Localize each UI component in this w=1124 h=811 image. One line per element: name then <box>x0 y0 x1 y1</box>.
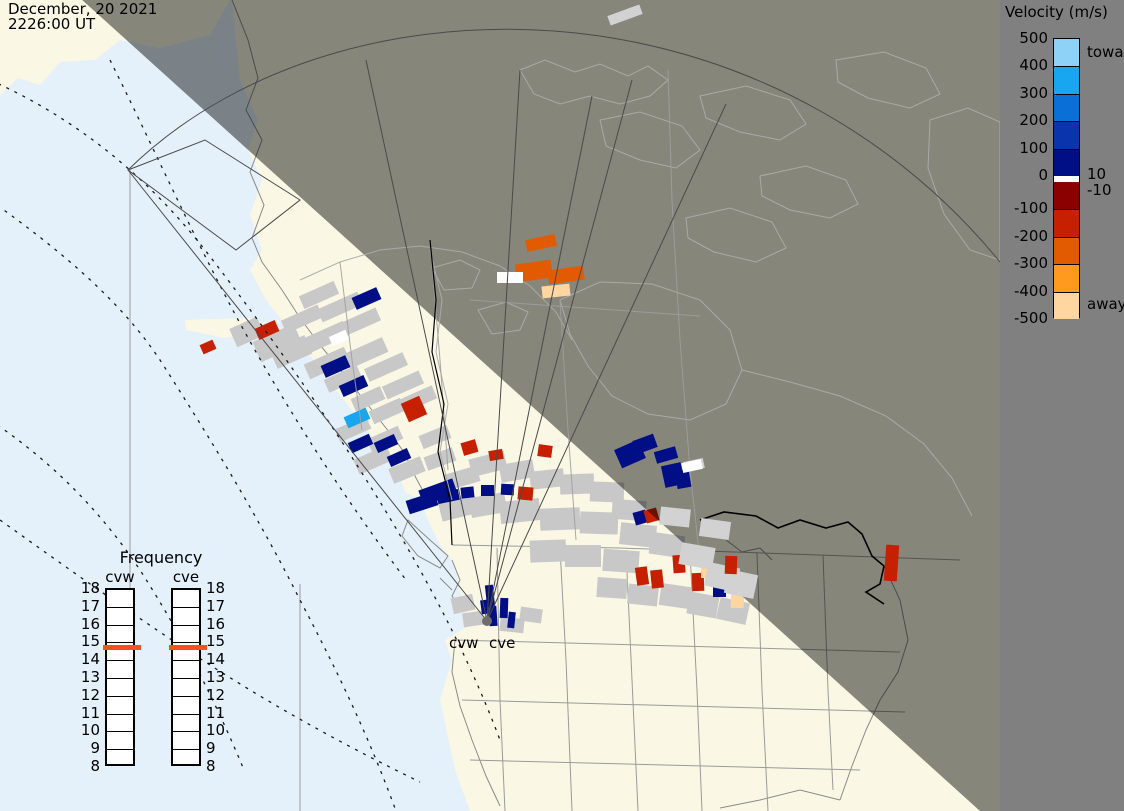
ground-scatter-cell <box>529 468 565 489</box>
radar-site-marker[interactable] <box>482 616 492 626</box>
colorbar-band-away-2 <box>1054 237 1079 264</box>
frequency-cell <box>173 608 199 626</box>
velocity-cell <box>725 556 738 574</box>
frequency-tick-cvw-16: 16 <box>80 615 100 633</box>
frequency-cell <box>173 697 199 715</box>
colorbar-band-away-4 <box>1054 292 1079 319</box>
ground-scatter-cell <box>530 539 567 562</box>
colorbar-band-away-0 <box>1054 182 1079 209</box>
timestamp-time: 2226:00 UT <box>8 17 95 32</box>
ground-scatter-cell <box>659 506 691 527</box>
frequency-cell <box>107 697 133 715</box>
frequency-cell <box>173 626 199 644</box>
frequency-cell <box>107 679 133 697</box>
frequency-cell <box>107 661 133 679</box>
colorbar-tick--200: -200 <box>1014 227 1048 245</box>
colorbar-divider <box>1054 237 1079 238</box>
colorbar-tick-200: 200 <box>1019 111 1048 129</box>
colorbar-tick--300: -300 <box>1014 254 1048 272</box>
frequency-tick-cvw-15: 15 <box>80 632 100 650</box>
ground-scatter-cell <box>602 549 639 573</box>
frequency-tick-cve-13: 13 <box>206 668 226 686</box>
colorbar-panel: Velocity (m/s) 5004003002001000-100-200-… <box>1000 0 1124 811</box>
frequency-marker-cve <box>169 645 207 650</box>
frequency-cell <box>173 679 199 697</box>
colorbar-title: Velocity (m/s) <box>1005 3 1108 21</box>
frequency-tick-cve-15: 15 <box>206 632 226 650</box>
frequency-bar-cve[interactable] <box>171 588 201 766</box>
frequency-tick-cvw-18: 18 <box>80 579 100 597</box>
frequency-cell <box>173 590 199 608</box>
colorbar-label-away: away <box>1087 295 1124 313</box>
frequency-tick-cvw-11: 11 <box>80 704 100 722</box>
velocity-cell <box>460 486 474 498</box>
colorbar-band-toward-1 <box>1054 66 1079 93</box>
frequency-tick-cve-18: 18 <box>206 579 226 597</box>
colorbar-label-gap-lower: -10 <box>1087 181 1112 199</box>
velocity-cell <box>650 569 664 588</box>
frequency-tick-cve-8: 8 <box>206 757 226 775</box>
frequency-tick-cve-11: 11 <box>206 704 226 722</box>
frequency-legend: Frequency cvw cve 18171615141312111098 1… <box>86 548 236 780</box>
frequency-cell <box>107 626 133 644</box>
colorbar-label-toward: toward <box>1087 43 1124 61</box>
frequency-legend-title: Frequency <box>86 548 236 567</box>
colorbar-divider <box>1054 209 1079 210</box>
velocity-cell <box>884 545 899 582</box>
colorbar-band-toward-4 <box>1054 149 1079 176</box>
frequency-tick-cvw-10: 10 <box>80 721 100 739</box>
colorbar-divider <box>1054 292 1079 293</box>
frequency-tick-cvw-12: 12 <box>80 686 100 704</box>
velocity-cell <box>497 272 523 283</box>
colorbar-tick-300: 300 <box>1019 84 1048 102</box>
frequency-tick-cve-9: 9 <box>206 739 226 757</box>
frequency-tick-cvw-14: 14 <box>80 650 100 668</box>
frequency-tick-cvw-13: 13 <box>80 668 100 686</box>
frequency-cell <box>107 732 133 750</box>
frequency-cell <box>107 590 133 608</box>
frequency-tick-cve-17: 17 <box>206 597 226 615</box>
frequency-tick-cvw-9: 9 <box>80 739 100 757</box>
frequency-tick-cve-10: 10 <box>206 721 226 739</box>
site-label-cvw: cvw <box>449 634 478 652</box>
colorbar-divider <box>1054 264 1079 265</box>
colorbar-divider <box>1054 149 1079 150</box>
frequency-tick-cvw-8: 8 <box>80 757 100 775</box>
frequency-tick-cve-14: 14 <box>206 650 226 668</box>
velocity-cell <box>537 444 553 458</box>
frequency-cell <box>107 715 133 733</box>
velocity-cell <box>500 598 509 618</box>
frequency-cell <box>173 661 199 679</box>
frequency-marker-cvw <box>103 645 141 650</box>
frequency-station-cve-label: cve <box>166 568 206 586</box>
ground-scatter-cell <box>565 545 601 567</box>
colorbar-divider <box>1054 121 1079 122</box>
frequency-tick-cve-12: 12 <box>206 686 226 704</box>
site-label-cve: cve <box>489 634 515 652</box>
colorbar-band-away-1 <box>1054 209 1079 236</box>
colorbar-divider <box>1054 94 1079 95</box>
colorbar-band-toward-0 <box>1054 39 1079 66</box>
frequency-tick-cvw-17: 17 <box>80 597 100 615</box>
colorbar-band-away-3 <box>1054 264 1079 291</box>
frequency-bar-cvw[interactable] <box>105 588 135 766</box>
colorbar-tick-0: 0 <box>1038 166 1048 184</box>
colorbar-tick-500: 500 <box>1019 29 1048 47</box>
frequency-cell <box>173 732 199 750</box>
radar-map[interactable]: cvw cve December, 20 2021 2226:00 UT Fre… <box>0 0 1000 811</box>
screenshot-root: cvw cve December, 20 2021 2226:00 UT Fre… <box>0 0 1124 811</box>
colorbar-tick-100: 100 <box>1019 139 1048 157</box>
colorbar-gradient[interactable] <box>1053 38 1080 318</box>
colorbar-tick-400: 400 <box>1019 56 1048 74</box>
colorbar-divider <box>1054 66 1079 67</box>
frequency-tick-cve-16: 16 <box>206 615 226 633</box>
velocity-cell <box>635 566 649 585</box>
ground-scatter-cell <box>596 577 627 599</box>
colorbar-tick--500: -500 <box>1014 309 1048 327</box>
colorbar-tick--400: -400 <box>1014 282 1048 300</box>
colorbar-band-toward-2 <box>1054 94 1079 121</box>
frequency-cell <box>173 715 199 733</box>
frequency-station-cvw-label: cvw <box>100 568 140 586</box>
frequency-cell <box>107 608 133 626</box>
colorbar-band-toward-3 <box>1054 121 1079 148</box>
ground-scatter-cell <box>560 473 595 494</box>
velocity-cell <box>481 485 494 496</box>
colorbar-tick--100: -100 <box>1014 199 1048 217</box>
